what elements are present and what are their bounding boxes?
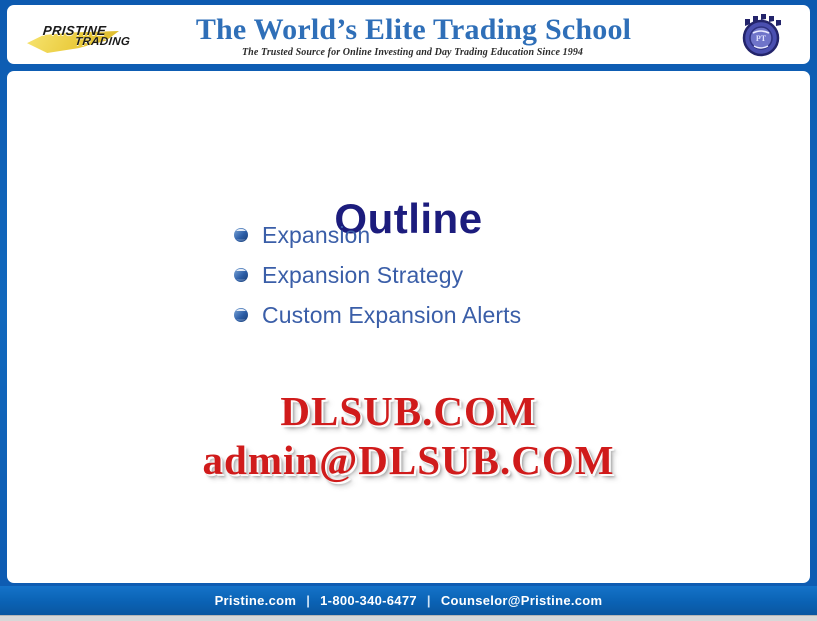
- list-item-label: Expansion: [253, 222, 370, 249]
- list-item: Custom Expansion Alerts: [231, 295, 751, 335]
- bottom-edge-strip: [0, 615, 817, 621]
- footer-separator-2: |: [417, 593, 441, 608]
- crescent-bullet-icon: [231, 305, 253, 325]
- slide-content: Outline: [7, 71, 810, 583]
- crescent-bullet-icon: [231, 225, 253, 245]
- header-banner: PRISTINE TRADING The World’s Elite Tradi…: [7, 5, 810, 64]
- svg-text:PT: PT: [756, 34, 767, 43]
- footer-bar: Pristine.com | 1-800-340-6477 | Counselo…: [0, 586, 817, 615]
- watermark-site: DLSUB.COM: [7, 391, 810, 432]
- list-item: Expansion: [231, 215, 751, 255]
- footer-phone: 1-800-340-6477: [320, 593, 417, 608]
- crescent-bullet-icon: [231, 265, 253, 285]
- watermark: DLSUB.COM admin@DLSUB.COM: [7, 391, 810, 481]
- header-title: The World’s Elite Trading School: [7, 13, 810, 47]
- list-item: Expansion Strategy: [231, 255, 751, 295]
- footer-separator-1: |: [296, 593, 320, 608]
- header-tagline: The Trusted Source for Online Investing …: [7, 47, 810, 58]
- watermark-email: admin@DLSUB.COM: [7, 440, 810, 481]
- outline-bullet-list: Expansion Expansion Strategy: [231, 215, 751, 335]
- footer-website[interactable]: Pristine.com: [215, 593, 297, 608]
- slide-frame: PRISTINE TRADING The World’s Elite Tradi…: [0, 0, 817, 621]
- list-item-label: Custom Expansion Alerts: [253, 302, 521, 329]
- pristine-seal-icon: PT: [736, 10, 786, 60]
- footer-email[interactable]: Counselor@Pristine.com: [441, 593, 603, 608]
- list-item-label: Expansion Strategy: [253, 262, 463, 289]
